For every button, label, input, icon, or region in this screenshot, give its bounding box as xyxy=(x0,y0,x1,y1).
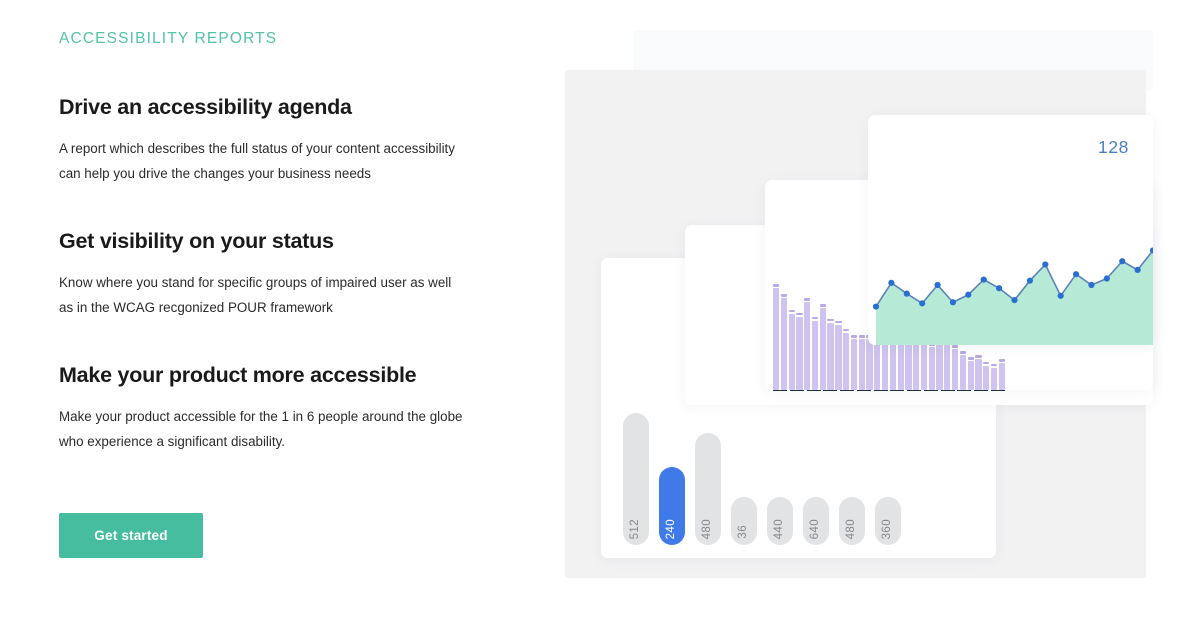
content-column: ACCESSIBILITY REPORTS Drive an accessibi… xyxy=(59,30,529,558)
area-data-point xyxy=(1088,282,1094,288)
feature-title-3: Make your product more accessible xyxy=(59,363,529,388)
purple-bar xyxy=(859,339,865,390)
area-data-point xyxy=(1058,293,1064,299)
purple-bar xyxy=(968,361,974,390)
purple-bar xyxy=(929,347,935,390)
dashboard-illustration: 51224048036440640480360 128 xyxy=(565,30,1165,590)
purple-bar xyxy=(944,345,950,390)
feature-title-2: Get visibility on your status xyxy=(59,229,529,254)
area-chart-svg xyxy=(868,213,1153,345)
capsule-pill-label: 480 xyxy=(702,519,714,539)
area-data-point xyxy=(981,277,987,283)
capsule-pill-label: 36 xyxy=(738,525,750,539)
purple-bar xyxy=(921,341,927,390)
area-data-point xyxy=(919,300,925,306)
purple-bar xyxy=(789,314,795,391)
capsule-pill-360[interactable]: 360 xyxy=(875,497,901,545)
purple-bar xyxy=(882,339,888,390)
feature-block-3: Make your product more accessible Make y… xyxy=(59,363,529,454)
purple-bar xyxy=(890,339,896,390)
purple-bar xyxy=(975,359,981,390)
accessibility-reports-section: ACCESSIBILITY REPORTS Drive an accessibi… xyxy=(0,0,1200,643)
feature-block-2: Get visibility on your status Know where… xyxy=(59,229,529,320)
capsule-pill-480[interactable]: 480 xyxy=(695,433,721,545)
purple-bar xyxy=(820,308,826,390)
capsule-pill-440[interactable]: 440 xyxy=(767,497,793,545)
area-data-point xyxy=(1011,297,1017,303)
area-data-point xyxy=(873,304,879,310)
feature-body-3: Make your product accessible for the 1 i… xyxy=(59,405,469,454)
capsule-pill-640[interactable]: 640 xyxy=(803,497,829,545)
area-data-point xyxy=(965,292,971,298)
area-data-point xyxy=(950,299,956,305)
area-data-point xyxy=(888,280,894,286)
capsule-pill-480[interactable]: 480 xyxy=(839,497,865,545)
kpi-value: 128 xyxy=(1098,137,1129,158)
feature-body-1: A report which describes the full status… xyxy=(59,137,469,186)
capsule-pill-label: 240 xyxy=(666,519,678,539)
purple-bar xyxy=(835,325,841,390)
purple-bar xyxy=(952,349,958,390)
area-data-point xyxy=(1027,278,1033,284)
area-data-point xyxy=(934,282,940,288)
purple-bar xyxy=(796,317,802,390)
purple-bar xyxy=(773,288,779,390)
area-data-point xyxy=(1119,258,1125,264)
card-area-chart: 128 xyxy=(868,115,1153,345)
area-data-point xyxy=(1042,261,1048,267)
capsule-pill-label: 512 xyxy=(630,519,642,539)
capsule-pill-36[interactable]: 36 xyxy=(731,497,757,545)
feature-block-1: Drive an accessibility agenda A report w… xyxy=(59,95,529,186)
capsule-pill-label: 480 xyxy=(846,519,858,539)
purple-bar xyxy=(804,302,810,390)
area-data-point xyxy=(996,285,1002,291)
get-started-button[interactable]: Get started xyxy=(59,513,203,558)
purple-bar xyxy=(991,368,997,390)
purple-bar xyxy=(983,366,989,390)
area-data-point xyxy=(1135,267,1141,273)
purple-bar xyxy=(866,339,872,390)
purple-bar xyxy=(843,333,849,390)
area-data-point xyxy=(1104,275,1110,281)
purple-bar xyxy=(913,343,919,390)
trend-area-chart xyxy=(868,213,1153,345)
purple-bar xyxy=(827,323,833,390)
capsule-pill-label: 440 xyxy=(774,519,786,539)
capsule-pill-240-active[interactable]: 240 xyxy=(659,467,685,545)
area-data-point xyxy=(904,291,910,297)
purple-bar xyxy=(874,339,880,390)
purple-bar xyxy=(905,339,911,390)
capsule-pill-label: 360 xyxy=(882,519,894,539)
purple-bar xyxy=(812,321,818,390)
feature-body-2: Know where you stand for specific groups… xyxy=(59,271,469,320)
section-eyebrow: ACCESSIBILITY REPORTS xyxy=(59,30,529,48)
capsule-pill-chart: 51224048036440640480360 xyxy=(623,395,978,545)
area-data-point xyxy=(1073,271,1079,277)
purple-bar xyxy=(960,355,966,390)
capsule-pill-512[interactable]: 512 xyxy=(623,413,649,545)
feature-title-1: Drive an accessibility agenda xyxy=(59,95,529,120)
purple-bar xyxy=(999,363,1005,390)
purple-bar xyxy=(781,298,787,390)
purple-bar xyxy=(851,339,857,390)
capsule-pill-label: 640 xyxy=(810,519,822,539)
